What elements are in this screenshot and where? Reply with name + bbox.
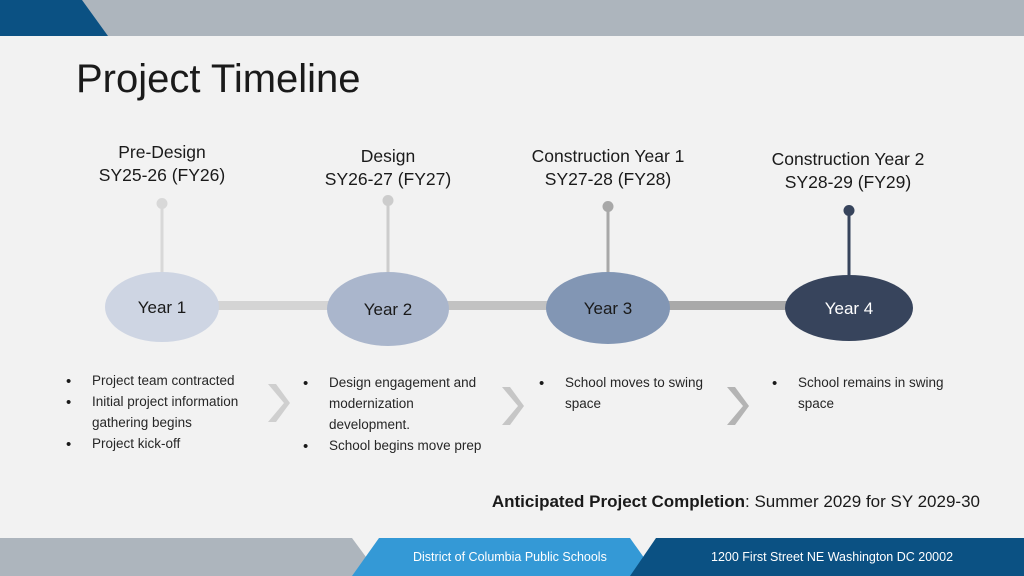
- list-item: Project kick-off: [66, 434, 266, 455]
- timeline-node-label: Year 2: [364, 301, 413, 318]
- bullet-list-design: Design engagement and modernization deve…: [303, 373, 488, 457]
- timeline-node-label: Year 1: [138, 299, 187, 316]
- stage-label-pre-design: Pre-Design SY25-26 (FY26): [56, 141, 268, 187]
- stage-pin-construction-year-2: [843, 205, 854, 275]
- stage-label-construction-year-2: Construction Year 2 SY28-29 (FY29): [740, 148, 956, 194]
- pin-stem: [606, 207, 609, 275]
- page-title: Project Timeline: [76, 57, 361, 102]
- bullet-list-construction-year-1: School moves to swing space: [539, 373, 714, 415]
- footer-gray-band: [0, 538, 380, 576]
- pin-stem: [847, 211, 850, 275]
- stage-label-line1: Construction Year 1: [500, 145, 716, 168]
- footer: District of Columbia Public Schools 1200…: [0, 538, 1024, 576]
- chevron-right-icon-3: [725, 385, 751, 427]
- chevron-right-icon-2: [500, 385, 526, 427]
- top-banner: [0, 0, 1024, 36]
- slide: Project Timeline Pre-Design SY25-26 (FY2…: [0, 0, 1024, 576]
- bullet-list-pre-design: Project team contracted Initial project …: [66, 371, 266, 455]
- timeline-node-label: Year 4: [825, 300, 874, 317]
- timeline-node-label: Year 3: [584, 300, 633, 317]
- completion-note-value: : Summer 2029 for SY 2029-30: [745, 492, 980, 511]
- list-item: School moves to swing space: [539, 373, 714, 415]
- completion-note-label: Anticipated Project Completion: [492, 492, 745, 511]
- stage-label-design: Design SY26-27 (FY27): [282, 145, 494, 191]
- stage-pin-construction-year-1: [602, 201, 613, 275]
- timeline-node-year-1[interactable]: Year 1: [105, 272, 219, 342]
- stage-pin-design: [382, 195, 393, 275]
- footer-organization-name: District of Columbia Public Schools: [413, 538, 607, 576]
- list-item: School remains in swing space: [772, 373, 952, 415]
- list-item: Project team contracted: [66, 371, 266, 392]
- stage-label-line2: SY26-27 (FY27): [282, 168, 494, 191]
- stage-label-construction-year-1: Construction Year 1 SY27-28 (FY28): [500, 145, 716, 191]
- timeline-node-year-3[interactable]: Year 3: [546, 272, 670, 344]
- list-item: School begins move prep: [303, 436, 488, 457]
- stage-label-line2: SY27-28 (FY28): [500, 168, 716, 191]
- stage-pin-pre-design: [156, 198, 167, 274]
- timeline-node-year-2[interactable]: Year 2: [327, 272, 449, 346]
- completion-note: Anticipated Project Completion: Summer 2…: [492, 492, 980, 512]
- stage-label-line1: Design: [282, 145, 494, 168]
- list-item: Initial project information gathering be…: [66, 392, 266, 434]
- list-item: Design engagement and modernization deve…: [303, 373, 488, 436]
- timeline-node-year-4[interactable]: Year 4: [785, 275, 913, 341]
- stage-label-line1: Construction Year 2: [740, 148, 956, 171]
- stage-label-line2: SY28-29 (FY29): [740, 171, 956, 194]
- footer-address: 1200 First Street NE Washington DC 20002: [711, 538, 953, 576]
- pin-stem: [386, 201, 389, 275]
- top-banner-gray-band: [0, 0, 1024, 36]
- stage-label-line1: Pre-Design: [56, 141, 268, 164]
- bullet-list-construction-year-2: School remains in swing space: [772, 373, 952, 415]
- pin-stem: [160, 204, 163, 274]
- chevron-right-icon-1: [266, 382, 292, 424]
- stage-label-line2: SY25-26 (FY26): [56, 164, 268, 187]
